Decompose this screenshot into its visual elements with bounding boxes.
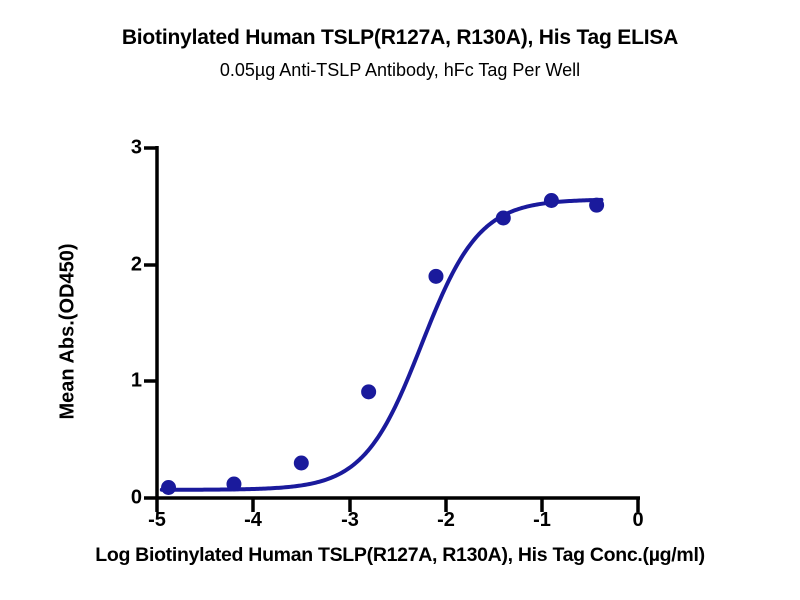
data-point <box>361 384 376 399</box>
data-point <box>294 456 309 471</box>
data-point <box>428 269 443 284</box>
data-point-group <box>161 193 604 495</box>
data-point <box>496 211 511 226</box>
sigmoid-fit-curve <box>162 200 602 490</box>
data-point <box>161 480 176 495</box>
data-point <box>589 198 604 213</box>
chart-figure: Biotinylated Human TSLP(R127A, R130A), H… <box>0 0 800 600</box>
plot-area <box>0 0 800 600</box>
data-point <box>226 477 241 492</box>
data-point <box>544 193 559 208</box>
